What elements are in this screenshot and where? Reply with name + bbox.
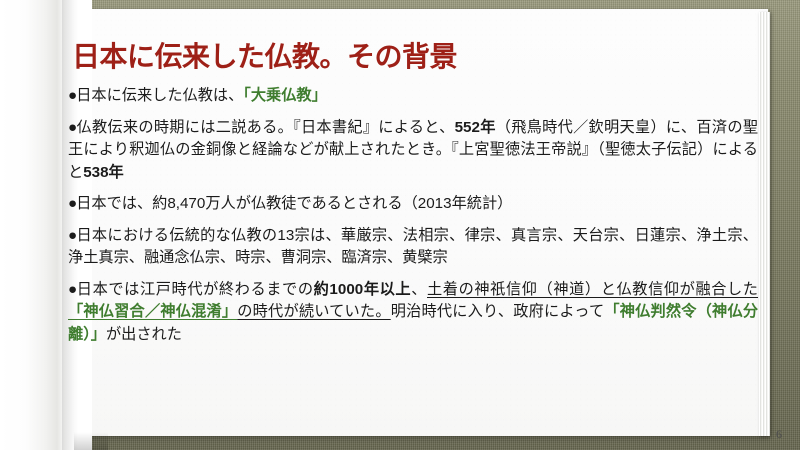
slide: 日本に伝来した仏教。その背景 ●日本に伝来した仏教は、「大乗仏教」●仏教伝来の時… [0, 0, 800, 450]
text-run: 、 [411, 281, 427, 298]
bullet-marker-icon: ● [68, 195, 76, 212]
text-run: 538年 [83, 164, 124, 181]
bullet-paragraph: ●日本では江戸時代が終わるまでの約1000年以上、土着の神祇信仰（神道）と仏教信… [68, 279, 758, 347]
bullet-paragraph: ●日本に伝来した仏教は、「大乗仏教」 [68, 85, 758, 108]
text-run: 日本における伝統的な仏教の13宗は、華厳宗、法相宗、律宗、真言宗、天台宗、日蓮宗… [68, 227, 758, 267]
text-run: 日本では、約8,470万人が仏教徒であるとされる（2013年統計） [76, 195, 512, 212]
text-run: 明治時代に入り、政府によって [391, 303, 605, 320]
text-run: 552年 [455, 119, 496, 136]
text-run: 「神仏習合／神仏混淆」 [68, 303, 237, 320]
text-run: 日本に伝来した仏教は、 [76, 87, 243, 104]
bullet-paragraph: ●日本における伝統的な仏教の13宗は、華厳宗、法相宗、律宗、真言宗、天台宗、日蓮… [68, 225, 758, 270]
text-run: 日本では江戸時代が終わるまでの [77, 281, 314, 298]
page-title: 日本に伝来した仏教。その背景 [72, 35, 457, 75]
bullet-marker-icon: ● [68, 281, 77, 298]
text-run: 約1000年以上 [314, 281, 412, 298]
text-run: の時代が続いていた。 [237, 303, 390, 320]
text-run: が出された [106, 326, 182, 343]
text-run: 土着の神祇信仰（神道）と仏教信仰が融合した [427, 281, 758, 298]
bullet-paragraph: ●仏教伝来の時期には二説ある。『日本書紀』によると、552年（飛鳥時代／欽明天皇… [68, 117, 758, 185]
slide-content: 日本に伝来した仏教。その背景 ●日本に伝来した仏教は、「大乗仏教」●仏教伝来の時… [62, 9, 762, 436]
text-run: 仏教伝来の時期には二説ある。『日本書紀』によると、 [76, 119, 454, 136]
text-run: 「大乗仏教」 [243, 87, 327, 104]
slide-body: ●日本に伝来した仏教は、「大乗仏教」●仏教伝来の時期には二説ある。『日本書紀』に… [68, 85, 758, 346]
page-number: 6 [776, 427, 782, 442]
bullet-marker-icon: ● [68, 87, 76, 104]
bullet-paragraph: ●日本では、約8,470万人が仏教徒であるとされる（2013年統計） [68, 193, 758, 216]
